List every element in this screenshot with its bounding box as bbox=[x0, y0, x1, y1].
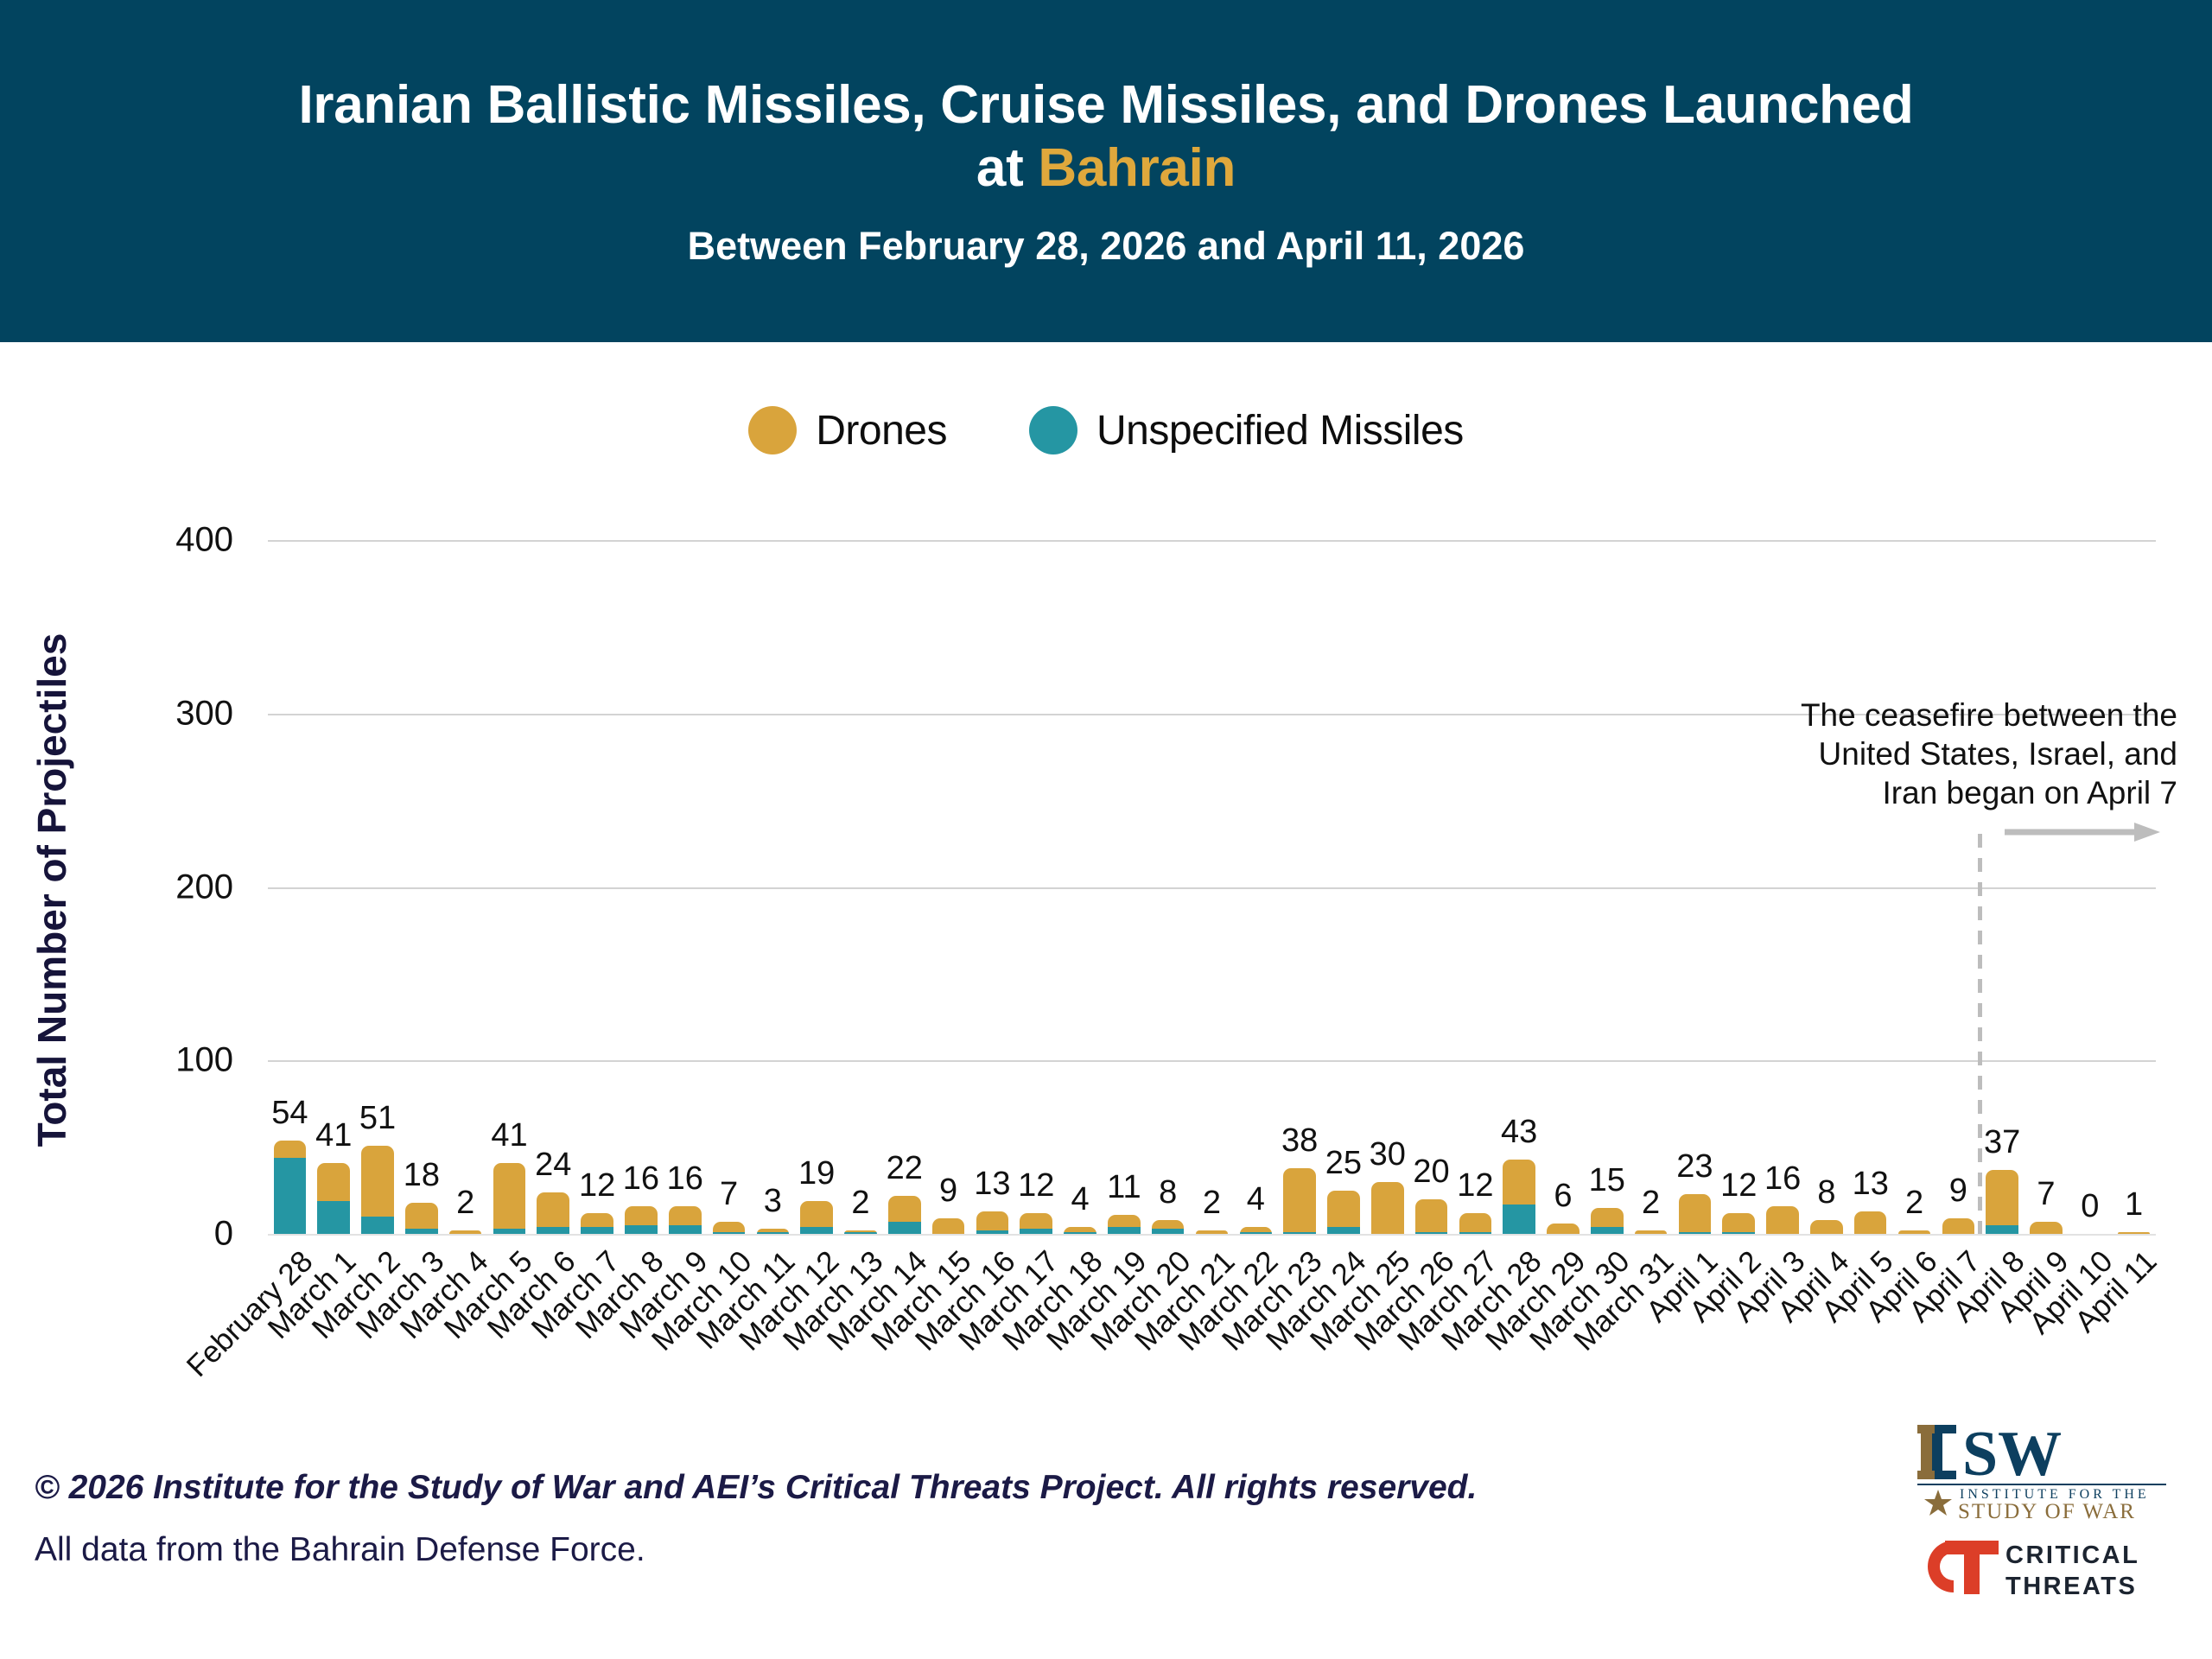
bar-segment-unspecified-missiles[interactable] bbox=[274, 1158, 307, 1234]
bar-segment-unspecified-missiles[interactable] bbox=[976, 1230, 1009, 1234]
axis-baseline bbox=[268, 1234, 2156, 1236]
bar-group[interactable]: 25March 24 bbox=[1322, 518, 1366, 1234]
stacked-bar[interactable] bbox=[1459, 1213, 1492, 1234]
y-axis-title: Total Number of Projectiles bbox=[29, 633, 75, 1147]
bar-group[interactable]: 9March 15 bbox=[926, 518, 970, 1234]
bar-group[interactable]: 11March 19 bbox=[1102, 518, 1146, 1234]
bar-group[interactable]: 2March 21 bbox=[1190, 518, 1234, 1234]
bar-group[interactable]: 12April 2 bbox=[1717, 518, 1761, 1234]
bar-group[interactable]: 18March 3 bbox=[399, 518, 443, 1234]
stacked-bar[interactable] bbox=[2118, 1232, 2151, 1234]
bar-group[interactable]: 1April 11 bbox=[2112, 518, 2156, 1234]
y-axis-tick-label: 400 bbox=[95, 521, 233, 560]
stacked-bar[interactable] bbox=[1108, 1215, 1141, 1234]
bar-segment-unspecified-missiles[interactable] bbox=[1459, 1232, 1492, 1234]
stacked-bar[interactable] bbox=[1810, 1220, 1843, 1234]
bar-segment-unspecified-missiles[interactable] bbox=[669, 1225, 702, 1234]
bar-group[interactable]: 7March 10 bbox=[707, 518, 751, 1234]
bar-segment-unspecified-missiles[interactable] bbox=[493, 1229, 526, 1234]
stacked-bar[interactable] bbox=[1547, 1224, 1580, 1234]
bar-group[interactable]: 8March 20 bbox=[1146, 518, 1190, 1234]
bar-value-label: 1 bbox=[2090, 1186, 2178, 1224]
bar-group[interactable]: 2March 31 bbox=[1629, 518, 1673, 1234]
bar-segment-drones[interactable] bbox=[932, 1218, 965, 1234]
bar-group[interactable]: 37April 8 bbox=[1980, 518, 2024, 1234]
bar-segment-drones[interactable] bbox=[713, 1222, 746, 1232]
y-axis-tick-label: 300 bbox=[95, 694, 233, 733]
bar-segment-unspecified-missiles[interactable] bbox=[757, 1232, 790, 1234]
stacked-bar[interactable] bbox=[844, 1230, 877, 1234]
bar-group[interactable]: 6March 29 bbox=[1541, 518, 1586, 1234]
y-axis-tick-label: 200 bbox=[95, 868, 233, 906]
bar-group[interactable]: 8April 4 bbox=[1804, 518, 1848, 1234]
stacked-bar[interactable] bbox=[581, 1213, 613, 1234]
stacked-bar[interactable] bbox=[713, 1222, 746, 1234]
ceasefire-vertical-line bbox=[1978, 834, 1982, 1234]
bar-group[interactable]: 2April 6 bbox=[1892, 518, 1936, 1234]
bar-segment-unspecified-missiles[interactable] bbox=[1327, 1227, 1360, 1234]
stacked-bar[interactable] bbox=[1240, 1227, 1273, 1234]
stacked-bar[interactable] bbox=[1942, 1218, 1975, 1234]
bar-segment-unspecified-missiles[interactable] bbox=[1283, 1232, 1316, 1234]
bar-group[interactable]: 7April 9 bbox=[2024, 518, 2069, 1234]
bar-segment-unspecified-missiles[interactable] bbox=[1986, 1225, 2018, 1234]
bar-segment-drones[interactable] bbox=[1942, 1218, 1975, 1234]
bar-segment-unspecified-missiles[interactable] bbox=[405, 1229, 438, 1234]
stacked-bar[interactable] bbox=[1898, 1230, 1931, 1234]
bar-segment-unspecified-missiles[interactable] bbox=[713, 1232, 746, 1234]
bar-segment-drones[interactable] bbox=[976, 1211, 1009, 1230]
bar-segment-unspecified-missiles[interactable] bbox=[1591, 1227, 1624, 1234]
bar-group[interactable]: 43March 28 bbox=[1497, 518, 1541, 1234]
bar-segment-drones[interactable] bbox=[1810, 1220, 1843, 1234]
svg-text:SW: SW bbox=[1962, 1421, 2062, 1490]
bar-group[interactable]: 38March 23 bbox=[1278, 518, 1322, 1234]
bar-group[interactable]: 13April 5 bbox=[1848, 518, 1892, 1234]
bar-group[interactable]: 24March 6 bbox=[531, 518, 575, 1234]
bar-group[interactable]: 20March 26 bbox=[1409, 518, 1453, 1234]
bar-segment-unspecified-missiles[interactable] bbox=[1240, 1232, 1273, 1234]
isw-tagline-2: STUDY OF WAR bbox=[1958, 1500, 2136, 1523]
bar-segment-unspecified-missiles[interactable] bbox=[317, 1201, 350, 1234]
stacked-bar[interactable] bbox=[1064, 1227, 1096, 1234]
copyright-text: © 2026 Institute for the Study of War an… bbox=[35, 1469, 1503, 1507]
bar-group[interactable]: 3March 11 bbox=[751, 518, 795, 1234]
ceasefire-note-line-2: United States, Israel, and bbox=[1784, 734, 2177, 773]
bar-group[interactable]: 13March 16 bbox=[970, 518, 1014, 1234]
bar-group[interactable]: 41March 5 bbox=[487, 518, 531, 1234]
bar-segment-unspecified-missiles[interactable] bbox=[581, 1227, 613, 1234]
bar-segment-unspecified-missiles[interactable] bbox=[888, 1222, 921, 1234]
bar-segment-drones[interactable] bbox=[1898, 1230, 1931, 1234]
bar-series-layer: 54February 2841March 151March 218March 3… bbox=[268, 518, 2156, 1234]
bar-group[interactable]: 4March 18 bbox=[1058, 518, 1103, 1234]
ct-word-2: THREATS bbox=[2005, 1573, 2137, 1600]
bar-group[interactable]: 23April 1 bbox=[1673, 518, 1717, 1234]
bar-group[interactable]: 16March 9 bbox=[663, 518, 707, 1234]
bar-segment-drones[interactable] bbox=[1635, 1230, 1668, 1234]
bar-group[interactable]: 22March 14 bbox=[882, 518, 926, 1234]
bar-segment-unspecified-missiles[interactable] bbox=[1722, 1232, 1755, 1234]
bar-segment-drones[interactable] bbox=[1108, 1215, 1141, 1227]
stacked-bar[interactable] bbox=[449, 1230, 482, 1234]
bar-segment-unspecified-missiles[interactable] bbox=[844, 1232, 877, 1234]
bar-segment-drones[interactable] bbox=[449, 1230, 482, 1234]
bar-segment-unspecified-missiles[interactable] bbox=[1064, 1232, 1096, 1234]
bar-segment-drones[interactable] bbox=[317, 1163, 350, 1201]
ceasefire-annotation-text: The ceasefire between the United States,… bbox=[1784, 696, 2177, 812]
stacked-bar[interactable] bbox=[317, 1163, 350, 1234]
bar-group[interactable]: 16March 8 bbox=[620, 518, 664, 1234]
y-axis-tick-label: 100 bbox=[95, 1041, 233, 1080]
stacked-bar[interactable] bbox=[932, 1218, 965, 1234]
chart-plot-area: Total Number of Projectiles 010020030040… bbox=[0, 0, 2212, 1659]
bar-group[interactable]: 12March 17 bbox=[1014, 518, 1058, 1234]
bar-group[interactable]: 19March 12 bbox=[795, 518, 839, 1234]
bar-segment-unspecified-missiles[interactable] bbox=[1415, 1232, 1448, 1234]
ct-word-1: CRITICAL bbox=[2005, 1541, 2139, 1569]
bar-segment-unspecified-missiles[interactable] bbox=[1108, 1227, 1141, 1234]
bar-group[interactable]: 15March 30 bbox=[1585, 518, 1629, 1234]
bar-segment-unspecified-missiles[interactable] bbox=[1020, 1229, 1052, 1234]
bar-segment-unspecified-missiles[interactable] bbox=[361, 1217, 394, 1234]
footer: © 2026 Institute for the Study of War an… bbox=[35, 1469, 1503, 1569]
bar-segment-unspecified-missiles[interactable] bbox=[1679, 1232, 1712, 1234]
bar-segment-drones[interactable] bbox=[2118, 1232, 2151, 1234]
bar-segment-unspecified-missiles[interactable] bbox=[625, 1225, 658, 1234]
stacked-bar[interactable] bbox=[1196, 1230, 1229, 1234]
bar-segment-drones[interactable] bbox=[1196, 1230, 1229, 1234]
bar-group[interactable]: 51March 2 bbox=[356, 518, 400, 1234]
bar-segment-unspecified-missiles[interactable] bbox=[800, 1227, 833, 1234]
y-axis-tick-label: 0 bbox=[95, 1215, 233, 1254]
bar-segment-unspecified-missiles[interactable] bbox=[537, 1227, 569, 1234]
bar-segment-drones[interactable] bbox=[1459, 1213, 1492, 1232]
isw-logo: SW INSTITUTE FOR THE STUDY OF WAR bbox=[1912, 1421, 2171, 1523]
stacked-bar[interactable] bbox=[1152, 1220, 1185, 1234]
bar-segment-drones[interactable] bbox=[581, 1213, 613, 1227]
data-source-text: All data from the Bahrain Defense Force. bbox=[35, 1531, 1503, 1569]
stacked-bar[interactable] bbox=[757, 1229, 790, 1234]
bar-segment-unspecified-missiles[interactable] bbox=[1152, 1229, 1185, 1234]
critical-threats-logo: CRITICAL THREATS bbox=[1912, 1534, 2171, 1603]
bar-group[interactable]: 2March 13 bbox=[839, 518, 883, 1234]
bar-segment-drones[interactable] bbox=[1722, 1213, 1755, 1232]
bar-segment-drones[interactable] bbox=[1547, 1224, 1580, 1234]
ceasefire-note-line-3: Iran began on April 7 bbox=[1784, 773, 2177, 812]
bar-group[interactable]: 12March 7 bbox=[575, 518, 620, 1234]
bar-group[interactable]: 30March 25 bbox=[1365, 518, 1409, 1234]
stacked-bar[interactable] bbox=[976, 1211, 1009, 1234]
bar-segment-drones[interactable] bbox=[1327, 1191, 1360, 1227]
bar-segment-drones[interactable] bbox=[625, 1206, 658, 1225]
bar-group[interactable]: 0April 10 bbox=[2068, 518, 2112, 1234]
stacked-bar[interactable] bbox=[274, 1141, 307, 1234]
arrow-right-icon bbox=[2005, 821, 2160, 843]
stacked-bar[interactable] bbox=[1635, 1230, 1668, 1234]
stacked-bar[interactable] bbox=[625, 1206, 658, 1234]
logo-group: SW INSTITUTE FOR THE STUDY OF WAR CRITIC… bbox=[1899, 1421, 2184, 1603]
stacked-bar[interactable] bbox=[1722, 1213, 1755, 1234]
ceasefire-note-line-1: The ceasefire between the bbox=[1784, 696, 2177, 734]
stacked-bar[interactable] bbox=[1327, 1191, 1360, 1234]
bar-group[interactable]: 16April 3 bbox=[1761, 518, 1805, 1234]
